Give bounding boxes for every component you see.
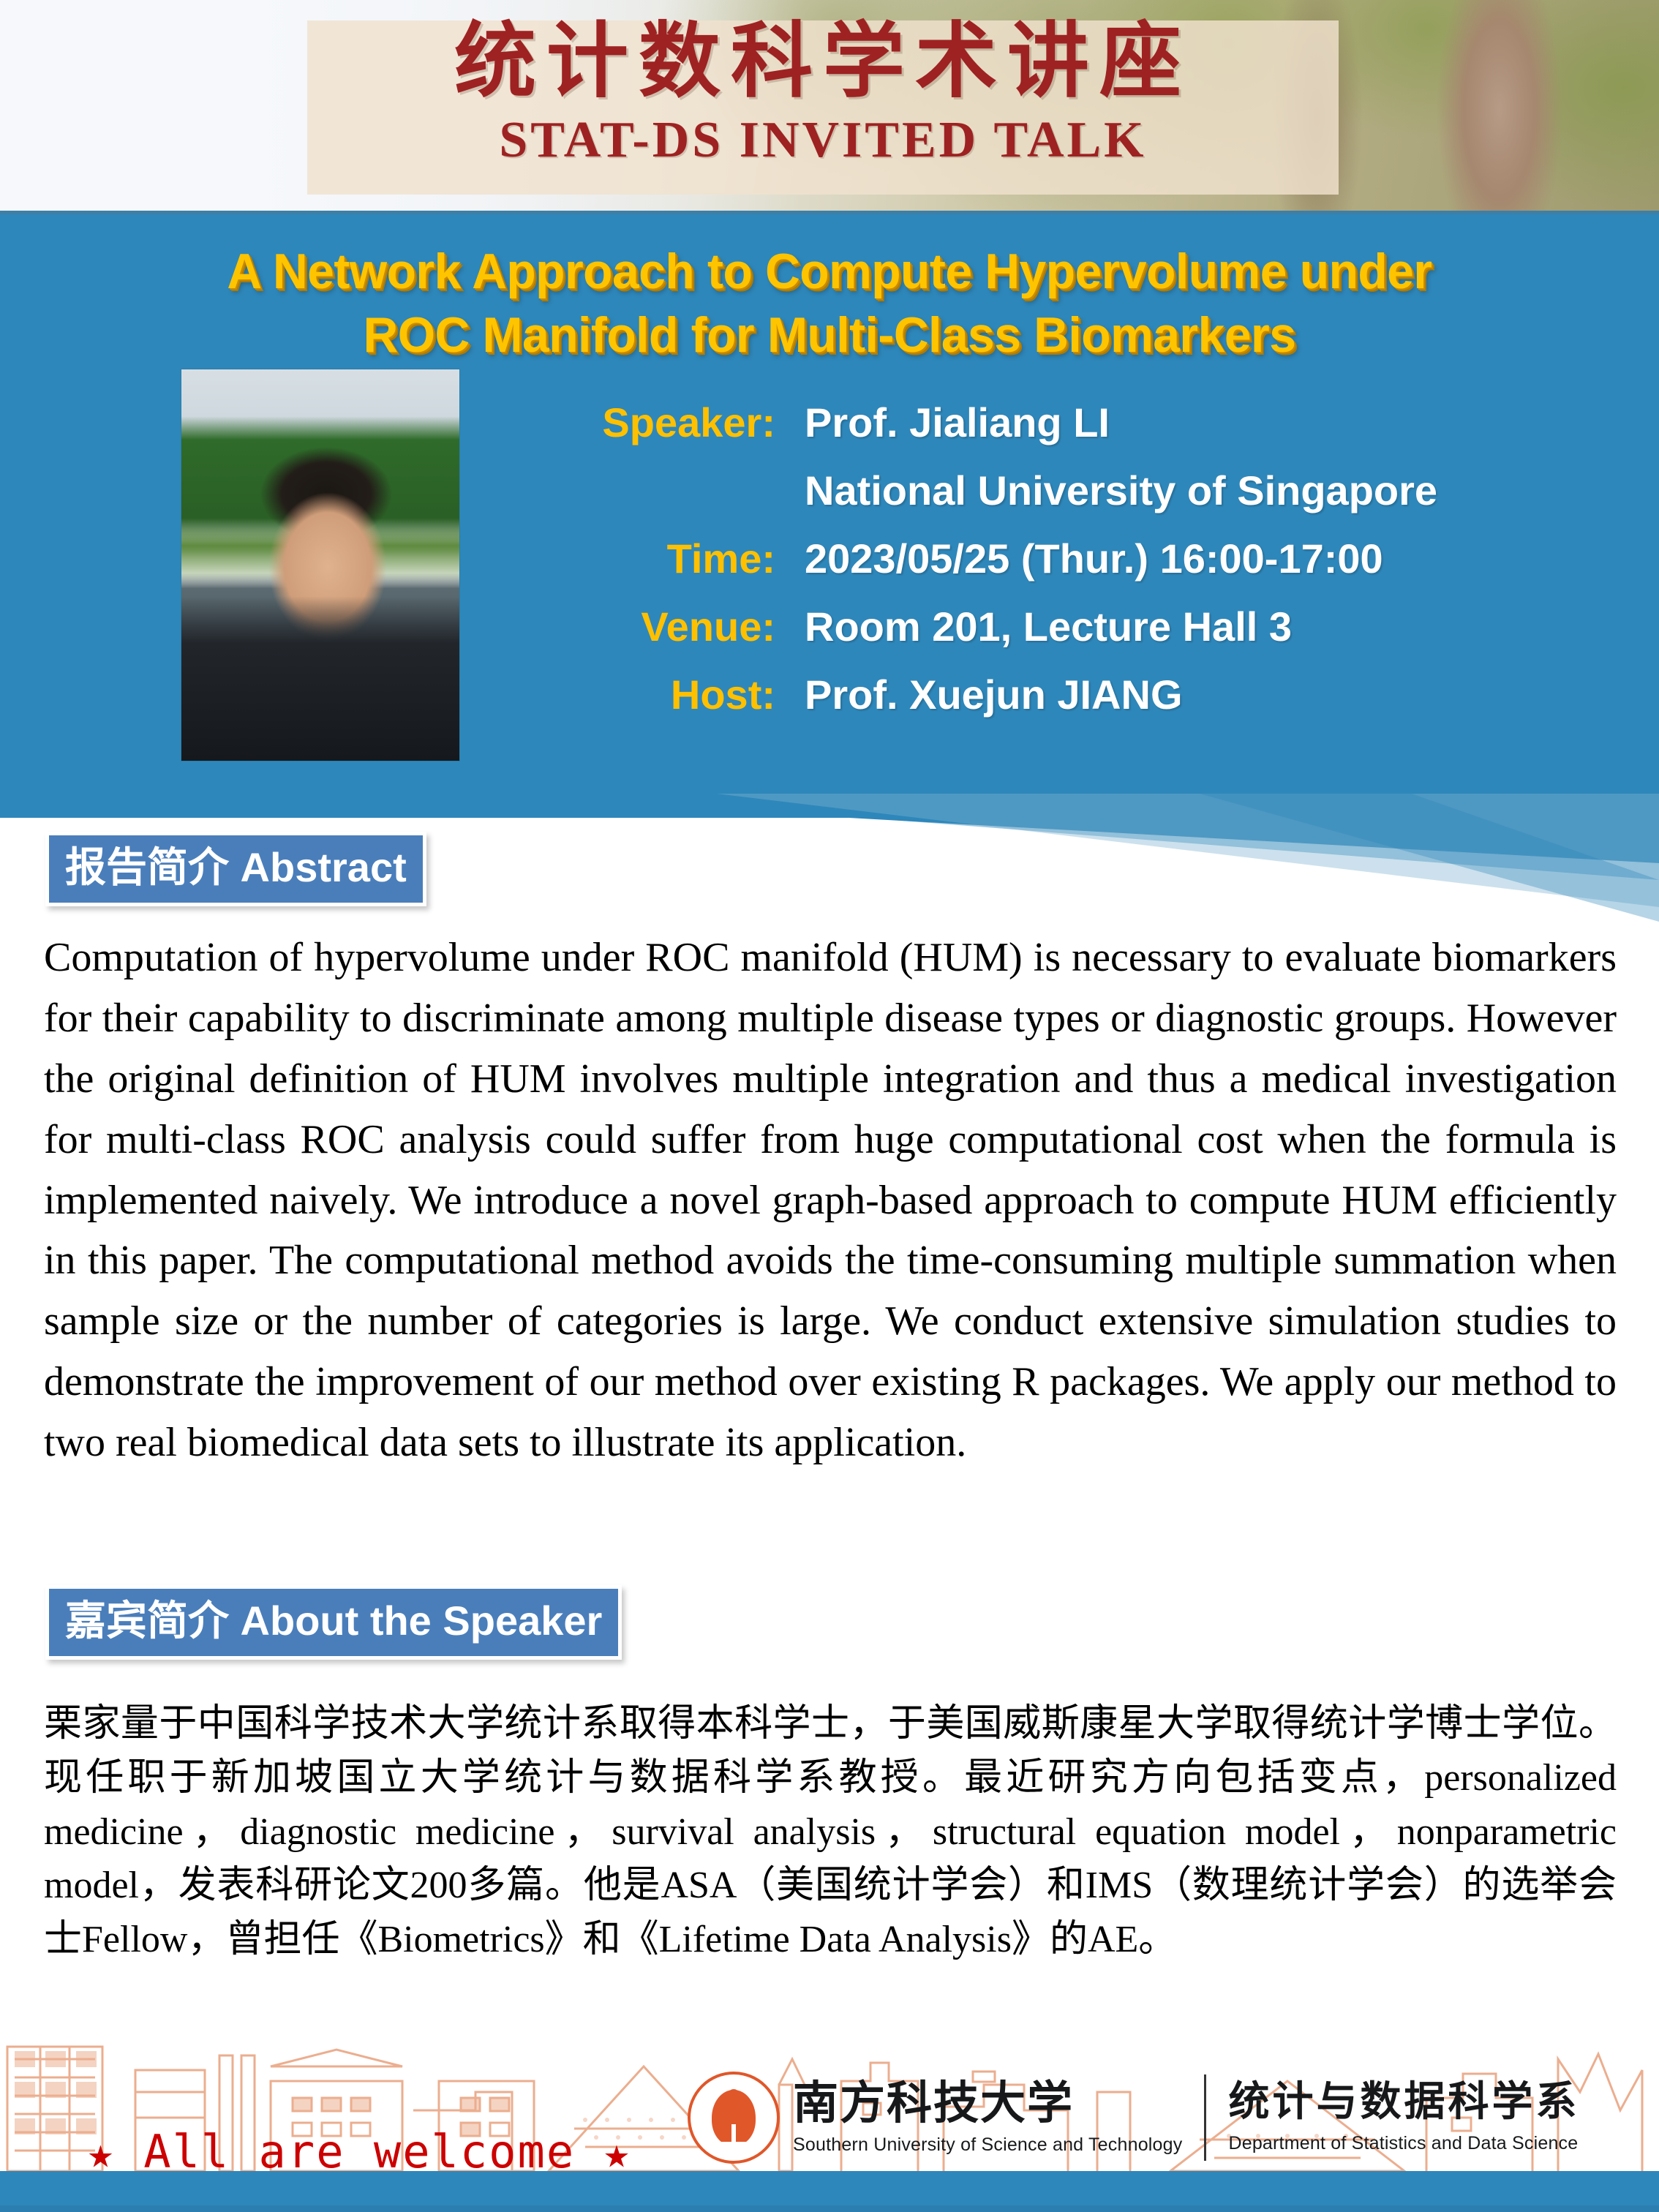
footer-bottom-edge (0, 2205, 1659, 2212)
welcome-message: ★ All are welcome ★ (88, 2125, 631, 2178)
university-name-english: Southern University of Science and Techn… (793, 2134, 1182, 2156)
abstract-section-badge: 报告简介 Abstract (45, 832, 426, 906)
host-label: Host: (556, 671, 805, 718)
abstract-body-text: Computation of hypervolume under ROC man… (44, 928, 1617, 1473)
host-value: Prof. Xuejun JIANG (805, 671, 1183, 718)
department-name-block: 统计与数据科学系 Department of Statistics and Da… (1228, 2082, 1579, 2154)
speaker-section-badge: 嘉宾简介 About the Speaker (45, 1585, 622, 1660)
venue-value: Room 201, Lecture Hall 3 (805, 603, 1292, 650)
star-right-icon: ★ (604, 2128, 631, 2178)
star-left-icon: ★ (88, 2128, 115, 2178)
detail-row-venue: Venue: Room 201, Lecture Hall 3 (556, 603, 1624, 650)
detail-spacer-2 (556, 519, 1624, 535)
detail-row-host: Host: Prof. Xuejun JIANG (556, 671, 1624, 718)
speaker-name: Prof. Jialiang LI (805, 399, 1110, 446)
detail-row-speaker: Speaker: Prof. Jialiang LI (556, 399, 1624, 446)
seal-flame-shape (724, 2089, 743, 2121)
seal-bar-shape (721, 2142, 746, 2146)
seminar-poster: 统计数科学术讲座 STAT-DS INVITED TALK A Network … (0, 0, 1659, 2212)
department-name-chinese: 统计与数据科学系 (1228, 2082, 1579, 2123)
talk-title: A Network Approach to Compute Hypervolum… (67, 240, 1592, 367)
header-title-chinese: 统计数科学术讲座 (307, 13, 1339, 110)
institution-logo-block: 南方科技大学 Southern University of Science an… (688, 2072, 1579, 2164)
speaker-photo (181, 369, 459, 761)
venue-label: Venue: (556, 603, 805, 650)
speaker-affiliation: National University of Singapore (805, 467, 1437, 514)
welcome-text: All are welcome (143, 2125, 575, 2178)
university-name-block: 南方科技大学 Southern University of Science an… (793, 2080, 1182, 2156)
department-name-english: Department of Statistics and Data Scienc… (1228, 2133, 1579, 2154)
talk-title-line2: ROC Manifold for Multi-Class Biomarkers (67, 304, 1592, 367)
time-value: 2023/05/25 (Thur.) 16:00-17:00 (805, 535, 1383, 582)
speaker-bio-text: 栗家量于中国科学技术大学统计系取得本科学士，于美国威斯康星大学取得统计学博士学位… (44, 1697, 1617, 1967)
header-banner: 统计数科学术讲座 STAT-DS INVITED TALK (0, 0, 1659, 214)
time-label: Time: (556, 535, 805, 582)
talk-details: Speaker: Prof. Jialiang LI National Univ… (556, 399, 1624, 723)
logo-divider (1204, 2074, 1206, 2161)
university-name-chinese: 南方科技大学 (793, 2080, 1182, 2126)
detail-row-time: Time: 2023/05/25 (Thur.) 16:00-17:00 (556, 535, 1624, 582)
detail-spacer (556, 451, 1624, 467)
sustech-seal-icon (688, 2072, 780, 2164)
detail-row-affiliation: National University of Singapore (556, 467, 1624, 514)
header-title-english: STAT-DS INVITED TALK (307, 111, 1339, 170)
speaker-label: Speaker: (556, 399, 805, 446)
talk-title-line1: A Network Approach to Compute Hypervolum… (67, 240, 1592, 304)
detail-spacer-4 (556, 655, 1624, 671)
detail-spacer-3 (556, 587, 1624, 603)
